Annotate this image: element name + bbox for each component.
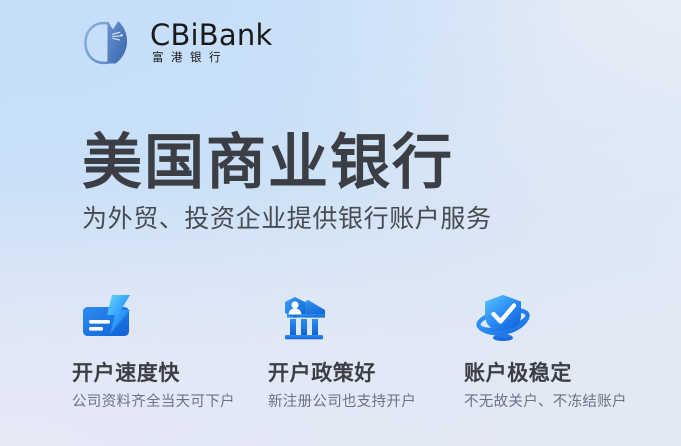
- page-subtitle: 为外贸、投资企业提供银行账户服务: [82, 204, 602, 234]
- feature-description: 公司资料齐全当天可下户: [72, 393, 235, 411]
- brand-wordmark-group: CBiBank 富港银行: [150, 21, 272, 64]
- feature-list: 开户速度快 公司资料齐全当天可下户: [72, 288, 672, 411]
- feature-description: 不无故关户、不冻结账户: [464, 393, 627, 411]
- feature-title: 账户极稳定: [464, 361, 572, 386]
- card-lightning-icon: [72, 288, 138, 346]
- hero-text-block: 美国商业银行 为外贸、投资企业提供银行账户服务: [82, 131, 602, 234]
- promo-banner: CBiBank 富港银行 美国商业银行 为外贸、投资企业提供银行账户服务: [0, 0, 681, 446]
- bank-person-icon: [268, 288, 334, 346]
- brand-sub-wordmark: 富港银行: [150, 52, 272, 65]
- cbibank-cat-logo-icon: [82, 17, 140, 69]
- brand-wordmark: CBiBank: [150, 21, 272, 51]
- brand-logo[interactable]: CBiBank 富港银行: [82, 17, 272, 69]
- feature-description: 新注册公司也支持开户: [268, 393, 416, 411]
- page-title: 美国商业银行: [82, 131, 602, 196]
- feature-item-policy: 开户政策好 新注册公司也支持开户: [268, 288, 464, 411]
- feature-item-speed: 开户速度快 公司资料齐全当天可下户: [72, 288, 268, 411]
- feature-item-stability: 账户极稳定 不无故关户、不冻结账户: [464, 288, 660, 411]
- feature-title: 开户政策好: [268, 361, 376, 386]
- shield-check-orbit-icon: [464, 288, 534, 346]
- feature-title: 开户速度快: [72, 361, 180, 386]
